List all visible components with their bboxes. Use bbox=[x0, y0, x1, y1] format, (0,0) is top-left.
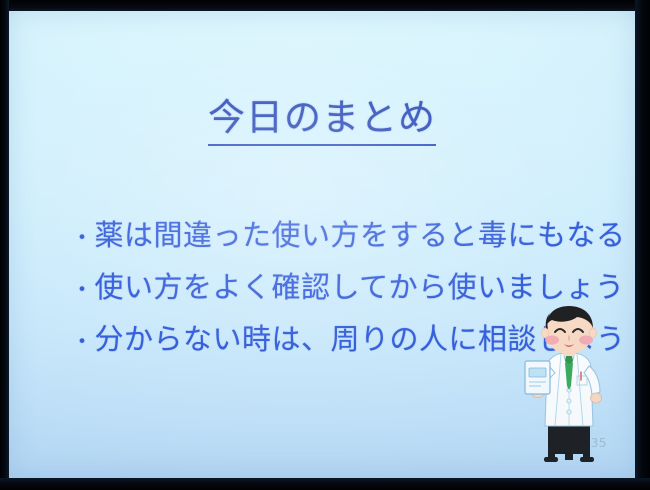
bullet-text: 薬は間違った使い方をすると毒にもなる bbox=[95, 209, 626, 261]
bullet-marker-icon: ・ bbox=[71, 317, 94, 369]
photo-frame-right bbox=[635, 0, 650, 490]
bullet-marker-icon: ・ bbox=[71, 265, 94, 317]
slide-page-number: 35 bbox=[591, 436, 607, 450]
slide-photo-screenshot: 今日のまとめ ・ 薬は間違った使い方をすると毒にもなる ・ 使い方をよく確認して… bbox=[0, 0, 650, 490]
list-item: ・ 薬は間違った使い方をすると毒にもなる bbox=[71, 209, 601, 261]
slide-title-container: 今日のまとめ bbox=[9, 99, 635, 146]
pharmacist-character-illustration bbox=[513, 302, 625, 470]
photo-frame-bottom bbox=[0, 478, 650, 490]
presentation-slide: 今日のまとめ ・ 薬は間違った使い方をすると毒にもなる ・ 使い方をよく確認して… bbox=[9, 11, 635, 478]
photo-frame-left bbox=[0, 0, 9, 490]
slide-title: 今日のまとめ bbox=[208, 99, 436, 146]
bullet-marker-icon: ・ bbox=[71, 213, 94, 265]
photo-frame-top bbox=[0, 0, 650, 11]
